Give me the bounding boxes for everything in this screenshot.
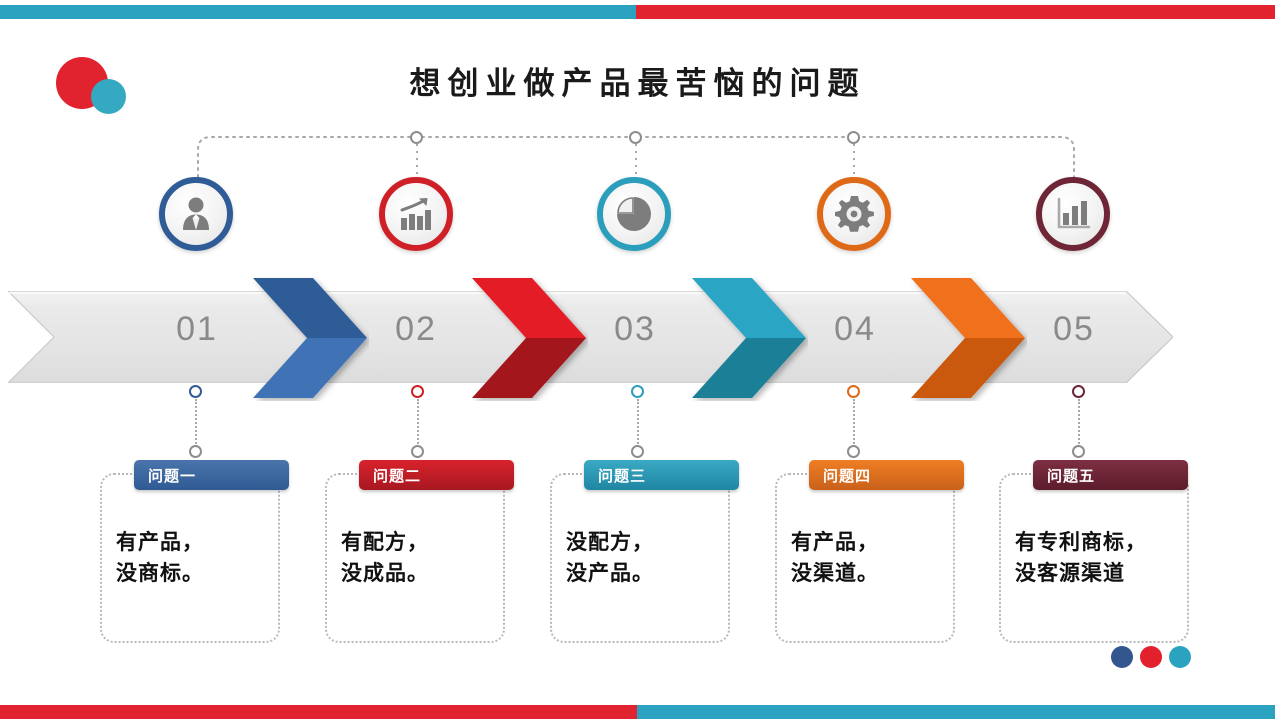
problem-card-3[interactable]: 问题三 没配方， 没产品。 [550, 473, 730, 643]
problem-card-body-2: 有配方， 没成品。 [341, 527, 495, 589]
card-line: 有专利商标， [1015, 527, 1179, 558]
problem-card-5[interactable]: 问题五 有专利商标， 没客源渠道 [999, 473, 1189, 643]
gear-icon [834, 194, 874, 234]
chevron-divider-3 [690, 276, 808, 401]
card-line: 有产品， [116, 527, 270, 558]
connector-dot-top-2 [411, 385, 424, 398]
top-accent-bar-left [0, 5, 636, 19]
problem-card-badge-1: 问题一 [134, 460, 289, 490]
card-line: 没商标。 [116, 558, 270, 589]
step-number-2: 02 [371, 310, 461, 349]
chevron-shape [690, 276, 808, 401]
rail-node-4 [847, 131, 860, 144]
businessman-icon [176, 194, 216, 234]
step-number-5: 05 [1029, 310, 1119, 349]
step-number-1: 01 [152, 310, 242, 349]
slide-canvas: 想创业做产品最苦恼的问题 [0, 0, 1275, 719]
rail-node-2 [410, 131, 423, 144]
connector-dot-bottom-1 [189, 445, 202, 458]
problem-card-badge-4: 问题四 [809, 460, 964, 490]
step-icon-4[interactable] [817, 177, 891, 251]
card-line: 有配方， [341, 527, 495, 558]
step-icon-2[interactable] [379, 177, 453, 251]
chevron-divider-1 [251, 276, 369, 401]
chevron-divider-2 [470, 276, 588, 401]
card-line: 有产品， [791, 527, 945, 558]
top-accent-bar-right [636, 5, 1275, 19]
footer-dot-red [1140, 646, 1162, 668]
connector-dot-top-3 [631, 385, 644, 398]
card-line: 没产品。 [566, 558, 720, 589]
connector-dot-top-5 [1072, 385, 1085, 398]
page-title: 想创业做产品最苦恼的问题 [0, 58, 1275, 103]
bottom-accent-bar-left [0, 705, 637, 719]
chevron-divider-4 [909, 276, 1027, 401]
connector-dot-top-4 [847, 385, 860, 398]
connector-dot-bottom-4 [847, 445, 860, 458]
problem-card-body-3: 没配方， 没产品。 [566, 527, 720, 589]
chevron-shape [909, 276, 1027, 401]
connector-dot-bottom-5 [1072, 445, 1085, 458]
step-icon-1[interactable] [159, 177, 233, 251]
connector-line-1 [195, 399, 197, 447]
pie-chart-icon [614, 194, 654, 234]
card-line: 没渠道。 [791, 558, 945, 589]
bar-chart-axis-icon [1053, 194, 1093, 234]
problem-card-badge-5: 问题五 [1033, 460, 1188, 490]
chevron-shape [251, 276, 369, 401]
connector-dot-bottom-3 [631, 445, 644, 458]
card-line: 没客源渠道 [1015, 558, 1179, 589]
problem-card-body-5: 有专利商标， 没客源渠道 [1015, 527, 1179, 589]
problem-card-body-4: 有产品， 没渠道。 [791, 527, 945, 589]
step-icon-5[interactable] [1036, 177, 1110, 251]
step-icon-3[interactable] [597, 177, 671, 251]
problem-card-body-1: 有产品， 没商标。 [116, 527, 270, 589]
card-line: 没成品。 [341, 558, 495, 589]
connector-line-4 [853, 399, 855, 447]
bar-chart-arrow-icon [396, 194, 436, 234]
step-number-3: 03 [590, 310, 680, 349]
footer-dot-blue [1111, 646, 1133, 668]
problem-card-badge-2: 问题二 [359, 460, 514, 490]
problem-card-2[interactable]: 问题二 有配方， 没成品。 [325, 473, 505, 643]
problem-card-1[interactable]: 问题一 有产品， 没商标。 [100, 473, 280, 643]
problem-card-badge-3: 问题三 [584, 460, 739, 490]
connector-line-5 [1078, 399, 1080, 447]
connector-line-2 [417, 399, 419, 447]
bottom-accent-bar-right [637, 705, 1275, 719]
footer-dot-teal [1169, 646, 1191, 668]
connector-dot-top-1 [189, 385, 202, 398]
card-line: 没配方， [566, 527, 720, 558]
problem-card-4[interactable]: 问题四 有产品， 没渠道。 [775, 473, 955, 643]
connector-line-3 [637, 399, 639, 447]
step-number-4: 04 [810, 310, 900, 349]
connector-dot-bottom-2 [411, 445, 424, 458]
chevron-shape [470, 276, 588, 401]
rail-node-3 [629, 131, 642, 144]
